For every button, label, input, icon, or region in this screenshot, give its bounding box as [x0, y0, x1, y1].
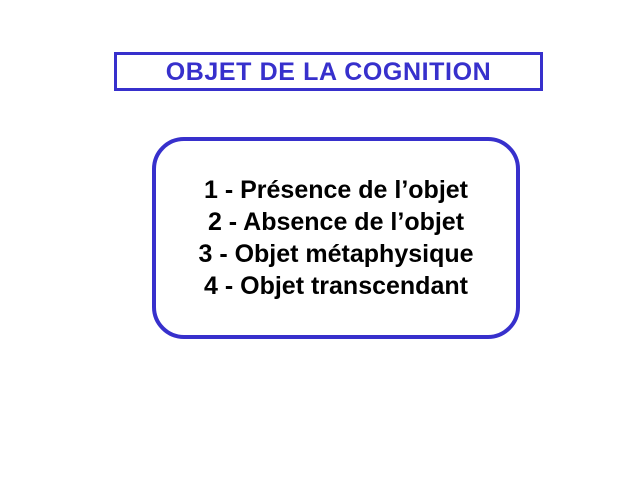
title-box: OBJET DE LA COGNITION [114, 52, 543, 91]
slide-canvas: OBJET DE LA COGNITION 1 - Présence de l’… [0, 0, 640, 480]
list-item: 4 - Objet transcendant [204, 270, 468, 302]
list-item: 1 - Présence de l’objet [204, 174, 468, 206]
page-title: OBJET DE LA COGNITION [166, 58, 492, 86]
content-box: 1 - Présence de l’objet 2 - Absence de l… [152, 137, 520, 339]
list-item: 2 - Absence de l’objet [208, 206, 464, 238]
list-item: 3 - Objet métaphysique [198, 238, 473, 270]
